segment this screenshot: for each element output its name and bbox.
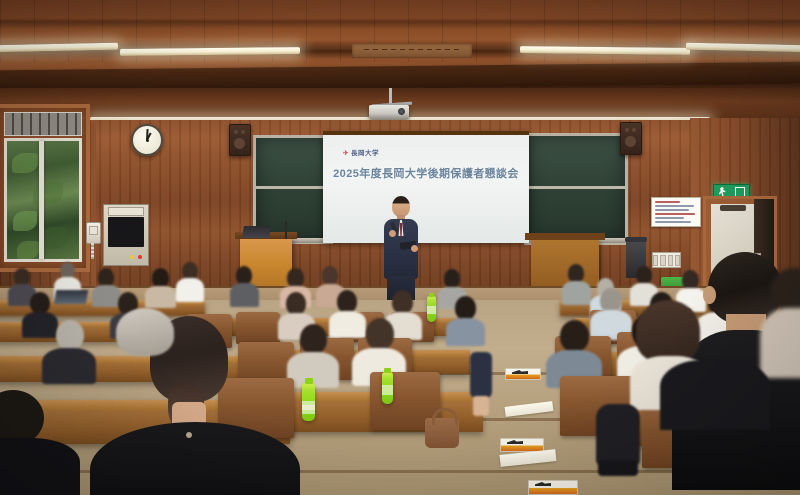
audience-head	[322, 266, 338, 285]
audience-body	[145, 286, 176, 308]
green-tea-bottle	[382, 372, 393, 404]
window	[0, 104, 90, 272]
collar-button-icon	[186, 432, 192, 438]
audience-head	[455, 296, 476, 320]
mic-stand	[285, 221, 287, 239]
door-closer	[720, 205, 746, 211]
step-marker-1	[505, 368, 541, 380]
audience-body	[446, 318, 485, 346]
foreground-person-center-dark	[660, 340, 770, 430]
bottle-cap	[305, 378, 313, 384]
presenter-hand-left	[389, 230, 396, 237]
audience-body	[22, 312, 58, 338]
presenter-hand-right	[411, 245, 418, 252]
av-power-led-icon	[138, 255, 142, 259]
handbag-handle	[432, 408, 458, 425]
audience-head	[286, 292, 306, 315]
wall-speaker-right	[620, 122, 642, 155]
bottle-cap	[384, 368, 391, 373]
green-tea-bottle	[427, 296, 436, 322]
black-top	[90, 422, 300, 495]
audience-head	[337, 290, 357, 313]
audience-head	[560, 320, 589, 352]
audience-body	[42, 348, 96, 384]
grey-hair	[116, 308, 174, 356]
audience-head	[56, 320, 84, 350]
audience-body	[329, 311, 366, 338]
window-vent	[4, 112, 82, 136]
bottle-label-band	[302, 405, 315, 410]
foreground-person-right-edge	[770, 268, 800, 388]
av-status-led-icon	[130, 255, 134, 259]
window-glass	[4, 138, 82, 262]
slide-title: 2025年度長岡大学後期保護者懇談会	[323, 165, 529, 181]
bottle-label	[382, 385, 393, 395]
audience-head	[30, 292, 50, 314]
lecture-hall-photo: ✈長岡大学 2025年度長岡大学後期保護者懇談会	[0, 0, 800, 495]
side-table-top	[525, 233, 605, 240]
audience-body	[562, 281, 591, 305]
body	[0, 438, 80, 495]
slide-logo: ✈長岡大学	[343, 147, 379, 157]
step-marker-3	[528, 480, 578, 495]
slide-logo-mark: ✈	[343, 150, 349, 157]
projection-screen: ✈長岡大学 2025年度長岡大学後期保護者懇談会	[323, 131, 529, 243]
body	[660, 360, 770, 430]
phone-cord	[91, 243, 94, 259]
presenter-head	[392, 196, 410, 217]
audience-head	[300, 324, 327, 354]
audience-head	[287, 268, 304, 288]
audience-head	[366, 318, 394, 350]
audience-body	[92, 285, 121, 307]
wall-speaker-left	[229, 124, 251, 156]
ceiling-ac-grille	[352, 44, 472, 58]
wall-notice-board	[651, 197, 701, 227]
laptop-on-lectern	[242, 226, 271, 238]
clock-center-pin	[146, 139, 149, 142]
wall-phone[interactable]	[86, 222, 101, 244]
chalkboard-right	[524, 133, 628, 245]
audience-body	[176, 278, 204, 302]
audience-legs	[596, 404, 642, 476]
av-cabinet-panel	[108, 217, 144, 247]
presenter	[378, 196, 424, 300]
av-cabinet[interactable]	[103, 204, 149, 266]
audience-body	[230, 283, 259, 307]
audience-head	[392, 290, 413, 314]
ceiling-projector	[369, 105, 409, 119]
wall-clock	[131, 124, 163, 156]
foreground-person-grey-hair	[116, 308, 188, 368]
audience-laptop	[54, 290, 88, 304]
audience-head	[152, 268, 169, 288]
green-tea-bottle	[302, 383, 315, 421]
audience-head	[636, 266, 652, 284]
handbag	[425, 418, 459, 448]
projector-lens-icon	[398, 108, 405, 115]
audience-standing-legs	[470, 352, 494, 418]
slide-logo-text: 長岡大学	[351, 150, 379, 157]
running-person-icon	[719, 187, 726, 196]
audience-head	[444, 269, 460, 288]
foreground-person-left-edge	[0, 390, 80, 495]
